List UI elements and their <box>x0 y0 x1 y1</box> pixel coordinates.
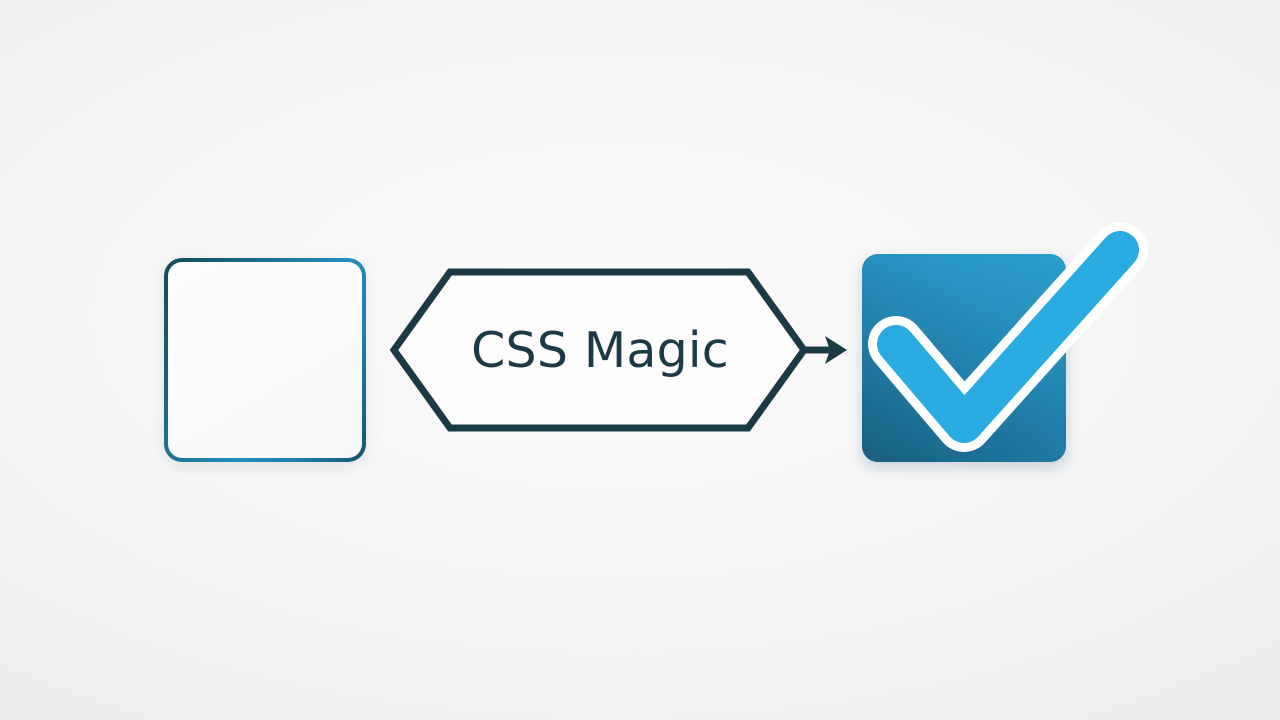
scene-canvas: CSS Magic <box>0 0 1280 720</box>
checked-checkbox[interactable] <box>856 232 1152 480</box>
empty-checkbox-fill <box>168 262 362 458</box>
banner-label: CSS Magic <box>400 268 800 432</box>
checkbox-transformation-diagram: CSS Magic <box>0 0 1280 720</box>
empty-checkbox[interactable] <box>164 258 366 462</box>
